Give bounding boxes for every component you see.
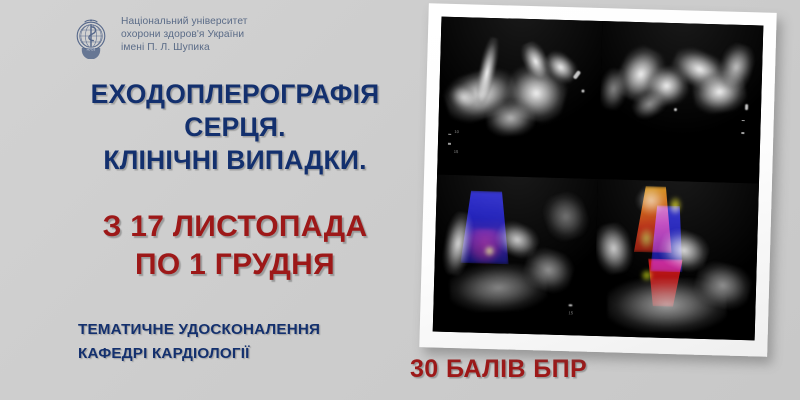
poster-title-line-3: КЛІНІЧНІ ВИПАДКИ. <box>50 144 420 177</box>
echocardiography-doppler-photo-frame: 10 15 <box>419 3 776 357</box>
echo-quadrant-top-right <box>598 21 763 183</box>
university-name-line-1: Національний університет <box>121 15 248 28</box>
course-type-line: ТЕМАТИЧНЕ УДОСКОНАЛЕННЯ <box>78 318 320 342</box>
department-line: КАФЕДРІ КАРДІОЛОГІЇ <box>78 342 320 366</box>
echo-quadrant-bottom-right <box>594 179 759 341</box>
cpd-points-badge: 30 БАЛІВ БПР <box>410 355 587 384</box>
svg-text:НУОЗ: НУОЗ <box>87 48 96 52</box>
poster-title-line-2: СЕРЦЯ. <box>50 111 420 144</box>
echo-quadrant-grid: 10 15 <box>433 17 764 341</box>
university-name-line-3: імені П. Л. Шупика <box>121 41 248 54</box>
university-name-line-2: охорони здоров'я України <box>121 28 248 41</box>
university-logo-block: НУОЗ Національний університет охорони зд… <box>68 13 248 59</box>
event-dates-line-1: З 17 ЛИСТОПАДА <box>50 208 420 246</box>
event-dates: З 17 ЛИСТОПАДА ПО 1 ГРУДНЯ <box>50 208 420 284</box>
who-rod-of-asclepius-emblem: НУОЗ <box>68 13 114 59</box>
echo-quadrant-top-left: 10 15 <box>437 17 602 179</box>
echocardiography-doppler-photo: 10 15 <box>433 17 764 341</box>
university-name: Національний університет охорони здоров'… <box>121 13 248 55</box>
echo-quadrant-bottom-left: 15 <box>433 174 598 336</box>
event-dates-line-2: ПО 1 ГРУДНЯ <box>50 246 420 284</box>
course-department-block: ТЕМАТИЧНЕ УДОСКОНАЛЕННЯ КАФЕДРІ КАРДІОЛО… <box>78 318 320 366</box>
poster-title: ЕХОДОПЛЕРОГРАФІЯ СЕРЦЯ. КЛІНІЧНІ ВИПАДКИ… <box>50 78 420 177</box>
poster-canvas: НУОЗ Національний університет охорони зд… <box>0 0 800 400</box>
poster-title-line-1: ЕХОДОПЛЕРОГРАФІЯ <box>50 78 420 111</box>
